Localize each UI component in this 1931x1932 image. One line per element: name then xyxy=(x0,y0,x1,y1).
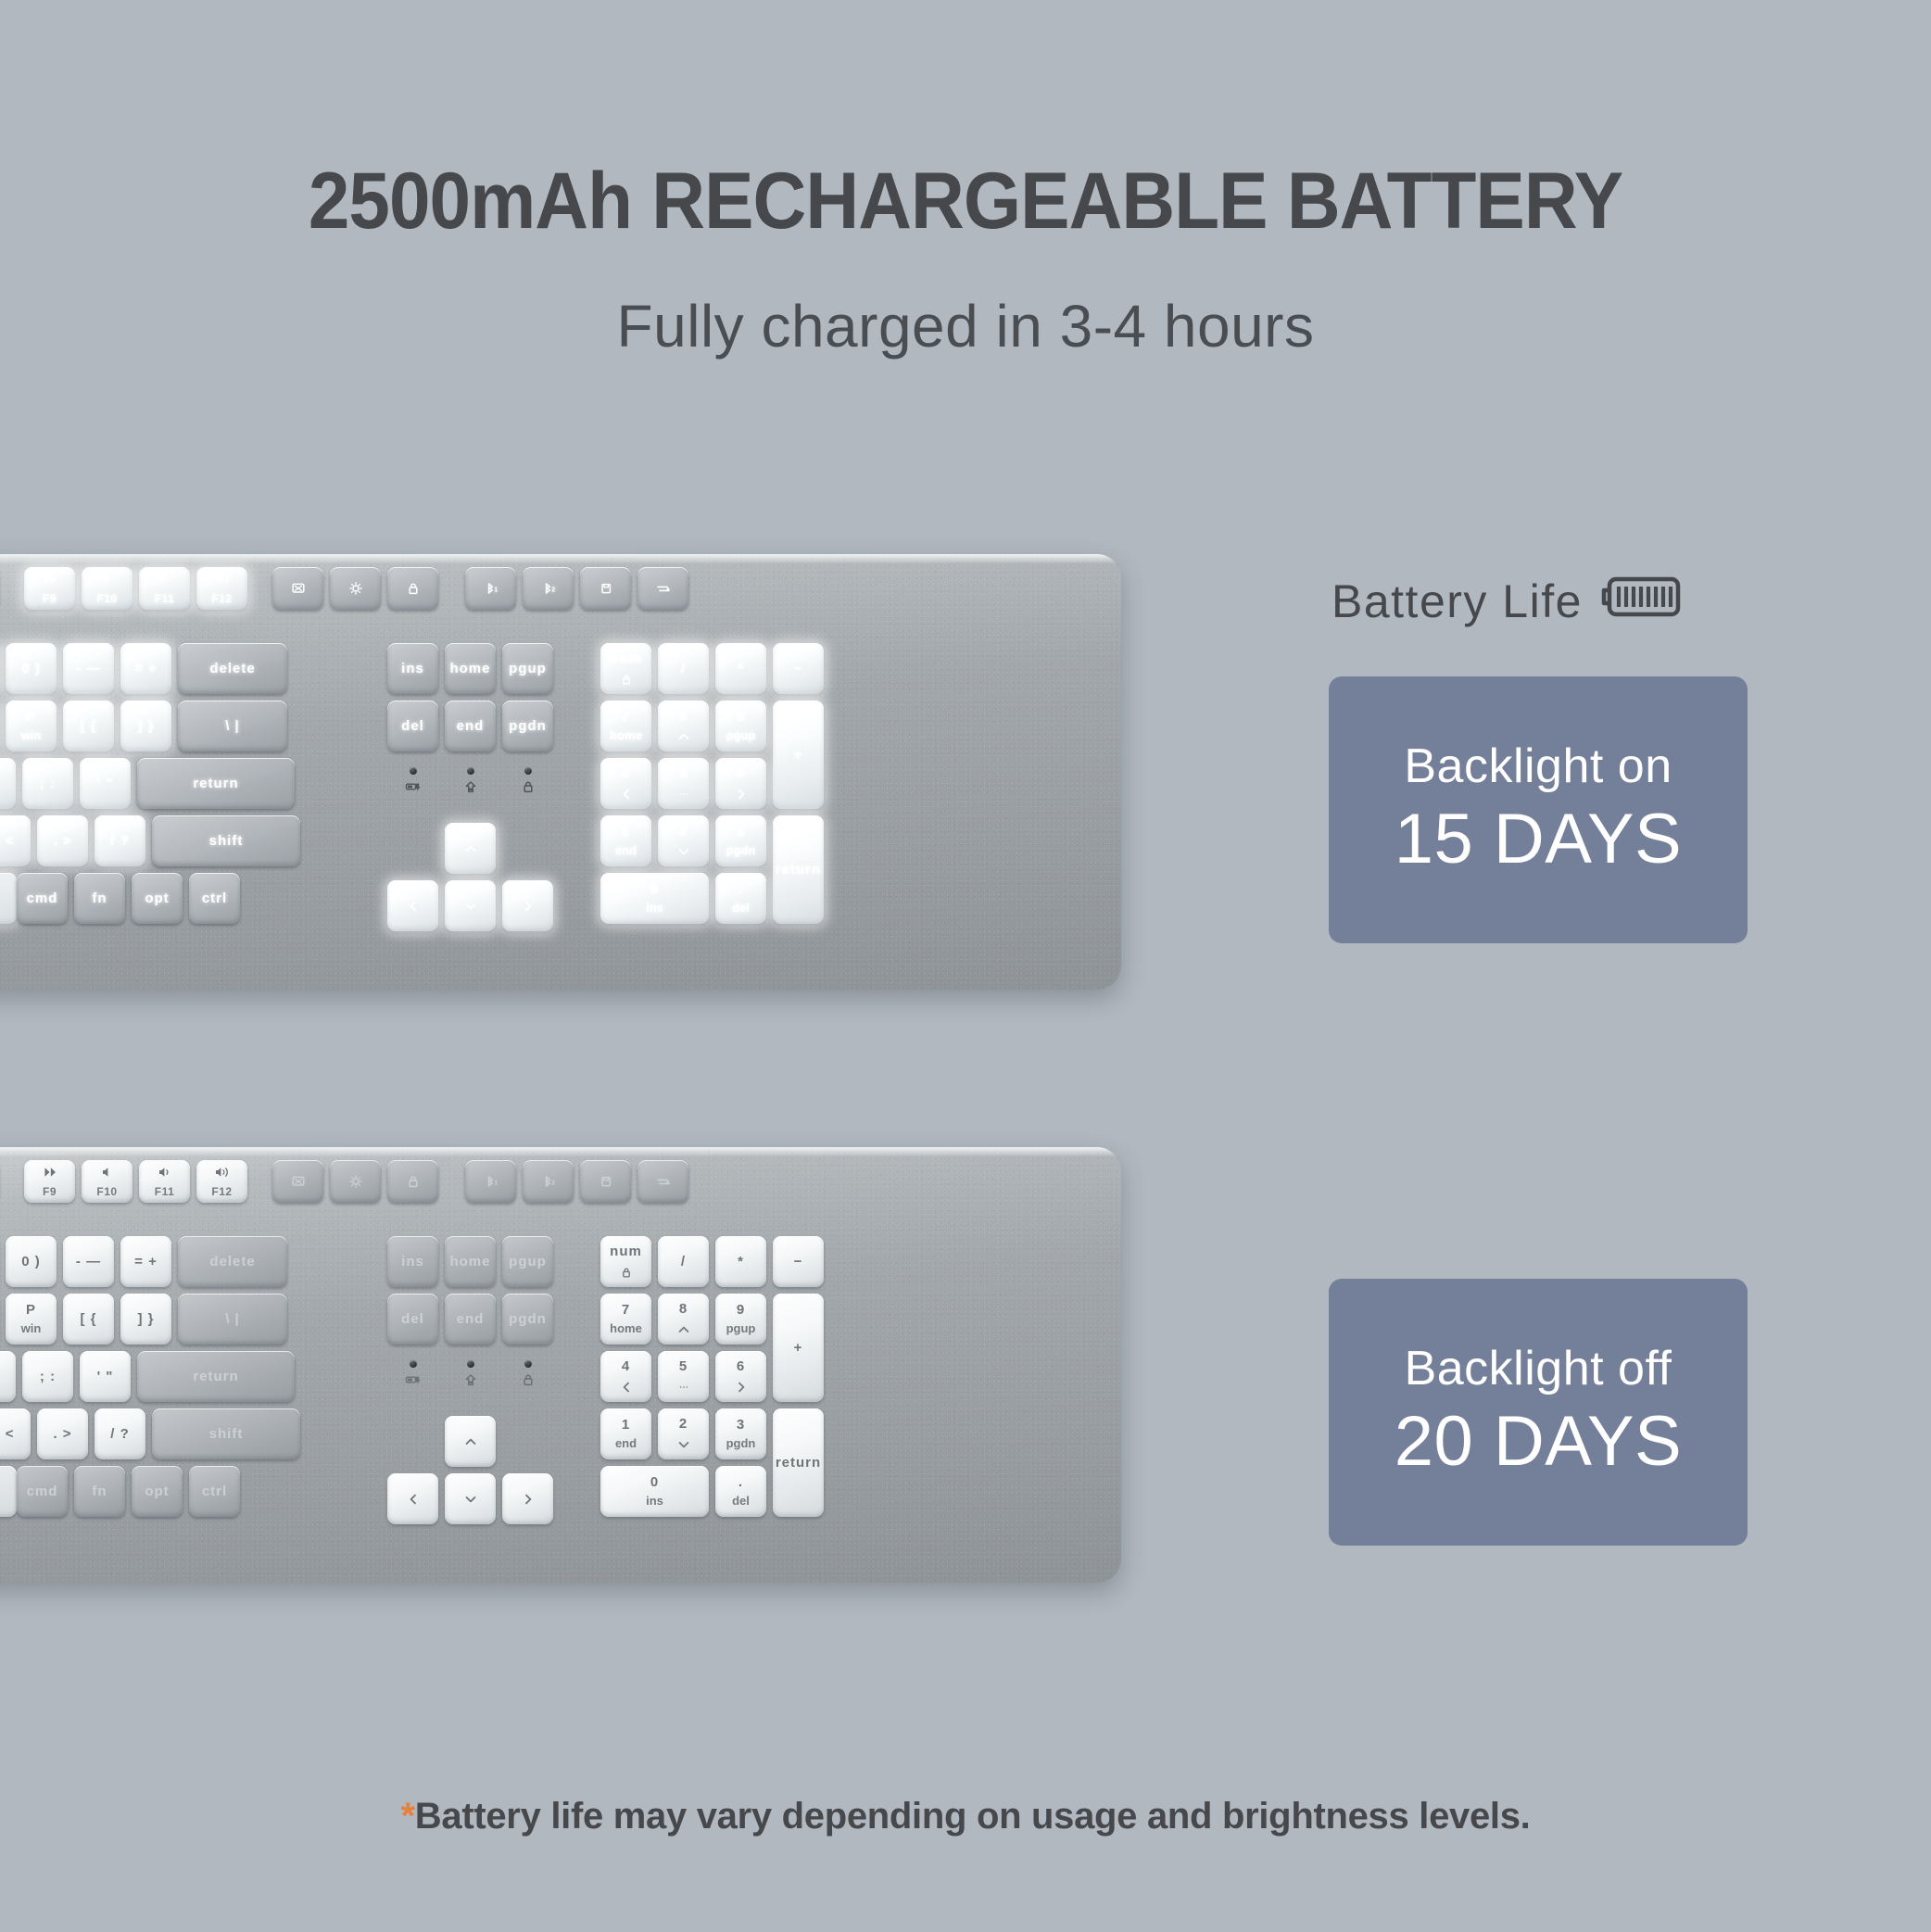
key-bluetooth-2[interactable]: 2 xyxy=(523,1160,574,1203)
num-lock-led xyxy=(519,767,537,796)
battery-life-label: Battery Life xyxy=(1332,575,1681,628)
key-legend: pgup xyxy=(509,661,547,676)
svg-text:1: 1 xyxy=(494,587,498,594)
numlock-icon xyxy=(617,672,636,687)
key-pgdn[interactable]: pgdn xyxy=(502,701,553,751)
key-numpad-*[interactable]: * xyxy=(715,643,766,694)
key-bluetooth-1[interactable]: 1 xyxy=(465,1160,516,1203)
key-legend: opt xyxy=(145,890,169,906)
key-sublegend: pgup xyxy=(726,729,756,743)
key-legend: / ? xyxy=(110,833,130,849)
key-del[interactable]: del xyxy=(387,701,438,751)
svg-text:2: 2 xyxy=(551,1181,555,1187)
brightness-icon xyxy=(347,1174,365,1189)
key-numpad-1[interactable]: 1end xyxy=(600,1408,651,1459)
key-legend: pgdn xyxy=(509,1311,547,1327)
key-arrow-up[interactable] xyxy=(445,1416,496,1467)
key-bluetooth-1[interactable]: 1 xyxy=(465,567,516,610)
key-legend: . > xyxy=(53,833,71,849)
key-f10[interactable]: F10 xyxy=(82,567,133,610)
down-arrow xyxy=(675,1437,693,1452)
key-sublegend: F11 xyxy=(155,593,175,606)
key-screenshot[interactable] xyxy=(272,567,323,610)
key-.>[interactable]: . > xyxy=(37,815,88,866)
key-sublegend: F9 xyxy=(43,593,57,606)
key-legend: − xyxy=(794,1254,803,1269)
lock-icon xyxy=(404,581,423,596)
key-legend: - — xyxy=(76,661,101,676)
key-numpad-8[interactable]: 8 xyxy=(658,701,709,751)
key-backslash[interactable]: \ | xyxy=(178,701,287,751)
key-sublegend: win xyxy=(21,1322,42,1336)
key-sublegend: F11 xyxy=(155,1186,175,1199)
keyboard-backlight-on: F5F6F7F8F9F10F11F12126 ∧7 &8 *9 (0 )- —=… xyxy=(0,554,1121,990)
key-legend: end xyxy=(457,1311,485,1327)
dongle-icon xyxy=(597,581,615,596)
key-.>[interactable]: . > xyxy=(37,1408,88,1459)
key-sublegend: F10 xyxy=(96,1186,117,1199)
led-dot xyxy=(467,1360,474,1368)
key-sublegend: home xyxy=(610,1322,642,1336)
key-numpad-plus[interactable]: + xyxy=(773,1294,824,1402)
dongle-icon xyxy=(597,1174,615,1189)
key-legend: ; : xyxy=(40,1369,56,1384)
key-legend: P xyxy=(26,1302,36,1318)
key-legend: 7 xyxy=(622,1302,630,1318)
charging-led xyxy=(404,767,423,796)
brightness-icon xyxy=(347,581,365,596)
page-title: 2500mAh RECHARGEABLE BATTERY xyxy=(68,156,1863,247)
key-legend: cmd xyxy=(27,890,58,906)
keyboard-backlight-off: F5F6F7F8F9F10F11F12126 ∧7 &8 *9 (0 )- —=… xyxy=(0,1147,1121,1583)
caps-lock-led xyxy=(461,1360,480,1389)
key-f10[interactable]: F10 xyxy=(82,1160,133,1203)
key-backslash[interactable]: \ | xyxy=(178,1294,287,1345)
right-arrow xyxy=(732,787,751,802)
key-pgdn[interactable]: pgdn xyxy=(502,1294,553,1345)
key-legend: 6 xyxy=(737,1358,745,1374)
key--—[interactable]: - — xyxy=(63,643,114,694)
key-'"[interactable]: ' " xyxy=(80,758,131,809)
key-/?[interactable]: / ? xyxy=(95,815,145,866)
callout-backlight-off: Backlight off 20 DAYS xyxy=(1329,1279,1748,1546)
usb-c-icon xyxy=(654,581,673,596)
key-legend: return xyxy=(193,1369,238,1384)
key-p[interactable]: Pwin xyxy=(6,1294,57,1345)
key-legend: / ? xyxy=(110,1426,130,1442)
key-legend: / xyxy=(681,661,686,676)
key-legend: delete xyxy=(209,661,255,676)
key-ins[interactable]: ins xyxy=(387,1236,438,1287)
key-legend: − xyxy=(794,661,803,676)
key-legend: del xyxy=(401,1311,424,1327)
key-legend: ; : xyxy=(40,776,56,791)
key-opt[interactable]: opt xyxy=(132,873,183,924)
key-sublegend: pgdn xyxy=(726,844,756,858)
right-arrow xyxy=(732,1380,751,1395)
usb-c-icon xyxy=(654,1174,673,1189)
key-numpad-decimal[interactable]: .del xyxy=(715,873,766,924)
down-arrow xyxy=(461,1492,480,1507)
footnote-asterisk: * xyxy=(401,1796,415,1837)
key-arrow-up[interactable] xyxy=(445,823,496,874)
key-numpad-5[interactable]: 5 xyxy=(658,758,709,809)
key--—[interactable]: - — xyxy=(63,1236,114,1287)
key-sublegend: win xyxy=(21,729,42,743)
key-legend: . > xyxy=(53,1426,71,1442)
key-legend: delete xyxy=(209,1254,255,1269)
key-sublegend: ins xyxy=(646,1495,663,1509)
charging-led xyxy=(404,1360,423,1389)
key-space[interactable] xyxy=(0,873,17,924)
key-legend: 8 xyxy=(679,708,688,724)
key-ctrl[interactable]: ctrl xyxy=(189,1466,240,1517)
key-delete[interactable]: delete xyxy=(178,643,287,694)
key-sublegend: del xyxy=(732,902,750,915)
callout-value: 20 DAYS xyxy=(1395,1401,1682,1482)
key-numpad-return[interactable]: return xyxy=(773,1408,824,1517)
key-legend: 3 xyxy=(737,824,745,840)
key-fn[interactable]: fn xyxy=(74,873,125,924)
key-legend: shift xyxy=(209,833,244,849)
key-arrow-right[interactable] xyxy=(502,880,553,931)
key-legend: 2 xyxy=(679,1416,688,1432)
key-f11[interactable]: F11 xyxy=(139,1160,190,1203)
key-p[interactable]: Pwin xyxy=(6,701,57,751)
bluetooth-2-icon: 2 xyxy=(539,1174,558,1189)
down-arrow xyxy=(461,899,480,914)
callout-label: Backlight off xyxy=(1405,1343,1672,1395)
lock-icon xyxy=(519,1372,537,1389)
key-f9[interactable]: F9 xyxy=(24,567,75,610)
key-del[interactable]: del xyxy=(387,1294,438,1345)
key-numpad-num[interactable]: num xyxy=(600,643,651,694)
key-numpad-/[interactable]: / xyxy=(658,1236,709,1287)
key-numpad-decimal[interactable]: .del xyxy=(715,1466,766,1517)
led-dot xyxy=(467,767,474,775)
fast-forward-icon xyxy=(41,1165,59,1180)
bluetooth-2-icon: 2 xyxy=(539,581,558,596)
key-l[interactable]: L xyxy=(0,758,16,809)
key-f11[interactable]: F11 xyxy=(139,567,190,610)
battery-charging-icon xyxy=(404,1372,423,1389)
fast-forward-icon xyxy=(41,572,59,587)
key-legend: = + xyxy=(134,1254,158,1269)
key-bluetooth-2[interactable]: 2 xyxy=(523,567,574,610)
key-legend: \ | xyxy=(225,718,240,734)
key-/?[interactable]: / ? xyxy=(95,1408,145,1459)
key-legend: 2 xyxy=(679,823,688,839)
key-legend: num xyxy=(610,650,642,666)
key-space[interactable] xyxy=(0,1466,17,1517)
key-sublegend: F9 xyxy=(43,1186,57,1199)
key-legend: num xyxy=(610,1244,642,1259)
key-usb-c[interactable] xyxy=(637,567,688,610)
key-legend: . xyxy=(738,1474,743,1490)
key-legend: return xyxy=(776,862,821,878)
key-legend: 4 xyxy=(622,765,630,781)
key-pgup[interactable]: pgup xyxy=(502,1236,553,1287)
key-,<[interactable]: , < xyxy=(0,1408,31,1459)
key-legend: 0 ) xyxy=(21,661,41,676)
key-end[interactable]: end xyxy=(445,1294,496,1345)
caps-lock-led xyxy=(461,767,480,796)
led-dot xyxy=(524,767,532,775)
key-numpad-*[interactable]: * xyxy=(715,1236,766,1287)
key-;:[interactable]: ; : xyxy=(22,1351,73,1402)
key-legend: . xyxy=(738,881,743,897)
key-numpad-−[interactable]: − xyxy=(773,643,824,694)
key-arrow-down[interactable] xyxy=(445,880,496,931)
key-numpad-3[interactable]: 3pgdn xyxy=(715,1408,766,1459)
key-numpad-6[interactable]: 6 xyxy=(715,758,766,809)
left-arrow xyxy=(404,1492,423,1507)
key-sublegend: F10 xyxy=(96,593,117,606)
key-legend: 1 xyxy=(622,824,630,840)
key-legend: 0 xyxy=(650,1474,659,1490)
key-arrow-down[interactable] xyxy=(445,1473,496,1524)
key-]}[interactable]: ] } xyxy=(120,1294,171,1345)
key-legend: end xyxy=(457,718,485,734)
key-legend: fn xyxy=(92,890,107,906)
dots xyxy=(675,787,693,802)
screenshot-icon xyxy=(289,581,308,596)
key-numpad-1[interactable]: 1end xyxy=(600,815,651,866)
key-l[interactable]: L xyxy=(0,1351,16,1402)
key-f12[interactable]: F12 xyxy=(196,567,247,610)
key-screenshot[interactable] xyxy=(272,1160,323,1203)
down-arrow xyxy=(675,844,693,859)
key-legend: return xyxy=(776,1455,821,1471)
key-sublegend: pgdn xyxy=(726,1437,756,1451)
key-legend: , < xyxy=(0,1426,15,1442)
key-sublegend: home xyxy=(610,729,642,743)
key-dongle[interactable] xyxy=(580,567,631,610)
key-=+[interactable]: = + xyxy=(120,643,171,694)
up-arrow xyxy=(675,1322,693,1337)
key-sublegend: ins xyxy=(646,902,663,915)
key-lock[interactable] xyxy=(387,567,438,610)
key-sublegend: del xyxy=(732,1495,750,1509)
key-numpad-5[interactable]: 5 xyxy=(658,1351,709,1402)
battery-life-text: Battery Life xyxy=(1332,575,1583,628)
key-legend: 9 xyxy=(737,709,745,725)
key-home[interactable]: home xyxy=(445,643,496,694)
led-dot xyxy=(410,1360,417,1368)
footnote-text: Battery life may vary depending on usage… xyxy=(415,1796,1531,1837)
key-legend: , < xyxy=(0,833,15,849)
bluetooth-1-icon: 1 xyxy=(482,1174,500,1189)
key-numpad-2[interactable]: 2 xyxy=(658,1408,709,1459)
left-arrow xyxy=(617,1380,636,1395)
key-legend: * xyxy=(738,1254,744,1269)
bluetooth-1-icon: 1 xyxy=(482,581,500,596)
key-delete[interactable]: delete xyxy=(178,1236,287,1287)
key-arrow-left[interactable] xyxy=(387,1473,438,1524)
key-ctrl[interactable]: ctrl xyxy=(189,873,240,924)
caps-lock-icon xyxy=(461,779,480,796)
key-legend: ' " xyxy=(97,1369,114,1384)
key-legend: pgdn xyxy=(509,718,547,734)
key-home[interactable]: home xyxy=(445,1236,496,1287)
num-lock-led xyxy=(519,1360,537,1389)
key-end[interactable]: end xyxy=(445,701,496,751)
led-dot xyxy=(524,1360,532,1368)
key-legend: ' " xyxy=(97,776,114,791)
key-0)[interactable]: 0 ) xyxy=(6,643,57,694)
up-arrow xyxy=(675,729,693,744)
key-legend: + xyxy=(794,1340,803,1356)
key-legend: fn xyxy=(92,1484,107,1499)
left-arrow xyxy=(404,899,423,914)
key-arrow-left[interactable] xyxy=(387,880,438,931)
key-return[interactable]: return xyxy=(137,758,295,809)
key-numpad-3[interactable]: 3pgdn xyxy=(715,815,766,866)
key-legend: 5 xyxy=(679,765,688,781)
key-;:[interactable]: ; : xyxy=(22,758,73,809)
svg-text:2: 2 xyxy=(551,587,555,594)
key-numpad-4[interactable]: 4 xyxy=(600,758,651,809)
key-legend: home xyxy=(449,1254,490,1269)
key-,<[interactable]: , < xyxy=(0,815,31,866)
key-numpad-0[interactable]: 0ins xyxy=(600,873,709,924)
key-numpad-9[interactable]: 9pgup xyxy=(715,1294,766,1345)
key-ins[interactable]: ins xyxy=(387,643,438,694)
key-return[interactable]: return xyxy=(137,1351,295,1402)
key-legend: ] } xyxy=(138,718,155,734)
volume-down-icon xyxy=(156,1165,174,1180)
right-arrow xyxy=(519,899,537,914)
page-subtitle: Fully charged in 3-4 hours xyxy=(0,292,1931,360)
screenshot-icon xyxy=(289,1174,308,1189)
key-sublegend: pgup xyxy=(726,1322,756,1336)
key-numpad-8[interactable]: 8 xyxy=(658,1294,709,1345)
key-numpad-7[interactable]: 7home xyxy=(600,1294,651,1345)
key-legend: 3 xyxy=(737,1417,745,1433)
key-'"[interactable]: ' " xyxy=(80,1351,131,1402)
key-legend: 5 xyxy=(679,1358,688,1374)
key-legend: = + xyxy=(134,661,158,676)
callout-value: 15 DAYS xyxy=(1395,799,1682,879)
key-=+[interactable]: = + xyxy=(120,1236,171,1287)
caps-lock-icon xyxy=(461,1372,480,1389)
key-brightness[interactable] xyxy=(330,567,381,610)
key-legend: ctrl xyxy=(202,1484,227,1499)
key-f9[interactable]: F9 xyxy=(24,1160,75,1203)
key-[{[interactable]: [ { xyxy=(63,701,114,751)
key-legend: * xyxy=(738,661,744,676)
key-legend: 4 xyxy=(622,1358,630,1374)
key-legend: ins xyxy=(401,661,424,676)
key-legend: \ | xyxy=(225,1311,240,1327)
svg-text:1: 1 xyxy=(494,1181,498,1187)
key-fn[interactable]: fn xyxy=(74,1466,125,1517)
key-legend: / xyxy=(681,1254,686,1269)
key-shift-right[interactable]: shift xyxy=(152,1408,300,1459)
battery-charging-icon xyxy=(404,779,423,796)
key-usb-c[interactable] xyxy=(637,1160,688,1203)
key-brightness[interactable] xyxy=(330,1160,381,1203)
callout-backlight-on: Backlight on 15 DAYS xyxy=(1329,676,1748,943)
key-legend: [ { xyxy=(81,1311,97,1327)
key-legend: 6 xyxy=(737,765,745,781)
key-numpad-num[interactable]: num xyxy=(600,1236,651,1287)
key-numpad-4[interactable]: 4 xyxy=(600,1351,651,1402)
key-numpad-2[interactable]: 2 xyxy=(658,815,709,866)
key-legend: P xyxy=(26,709,36,725)
key-legend: 7 xyxy=(622,709,630,725)
volume-down-icon xyxy=(156,572,174,587)
key-cmd[interactable]: cmd xyxy=(17,873,68,924)
led-dot xyxy=(410,767,417,775)
key-arrow-right[interactable] xyxy=(502,1473,553,1524)
key-numpad-9[interactable]: 9pgup xyxy=(715,701,766,751)
key-cmd[interactable]: cmd xyxy=(17,1466,68,1517)
key-numpad-/[interactable]: / xyxy=(658,643,709,694)
volume-up-icon xyxy=(213,1165,232,1180)
key-f12[interactable]: F12 xyxy=(196,1160,247,1203)
footnote: *Battery life may vary depending on usag… xyxy=(0,1796,1931,1837)
numlock-icon xyxy=(617,1265,636,1280)
key-legend: 9 xyxy=(737,1302,745,1318)
key-dongle[interactable] xyxy=(580,1160,631,1203)
key-legend: home xyxy=(449,661,490,676)
right-arrow xyxy=(519,1492,537,1507)
key-sublegend: F12 xyxy=(211,593,232,606)
key-legend: return xyxy=(193,776,238,791)
key-legend: 1 xyxy=(622,1417,630,1433)
key-sublegend: F12 xyxy=(211,1186,232,1199)
key-legend: 0 xyxy=(650,881,659,897)
key-legend: pgup xyxy=(509,1254,547,1269)
volume-up-icon xyxy=(213,572,232,587)
key-sublegend: end xyxy=(615,844,637,858)
key-numpad-−[interactable]: − xyxy=(773,1236,824,1287)
key-legend: + xyxy=(794,747,803,763)
key-numpad-7[interactable]: 7home xyxy=(600,701,651,751)
key-lock[interactable] xyxy=(387,1160,438,1203)
volume-mute-icon xyxy=(98,572,117,587)
key-pgup[interactable]: pgup xyxy=(502,643,553,694)
key-legend: 0 ) xyxy=(21,1254,41,1269)
volume-mute-icon xyxy=(98,1165,117,1180)
key-numpad-return[interactable]: return xyxy=(773,815,824,924)
key-legend: ctrl xyxy=(202,890,227,906)
key-legend: [ { xyxy=(81,718,97,734)
key-shift-right[interactable]: shift xyxy=(152,815,300,866)
key-legend: opt xyxy=(145,1484,169,1499)
up-arrow xyxy=(461,1434,480,1449)
key-numpad-plus[interactable]: + xyxy=(773,701,824,809)
key-sublegend: end xyxy=(615,1437,637,1451)
up-arrow xyxy=(461,841,480,856)
key-legend: shift xyxy=(209,1426,244,1442)
key-opt[interactable]: opt xyxy=(132,1466,183,1517)
key-legend: cmd xyxy=(27,1484,58,1499)
key-0)[interactable]: 0 ) xyxy=(6,1236,57,1287)
key-legend: 8 xyxy=(679,1301,688,1317)
key-legend: ins xyxy=(401,1254,424,1269)
lock-icon xyxy=(519,779,537,796)
callout-label: Backlight on xyxy=(1404,740,1672,793)
key-numpad-6[interactable]: 6 xyxy=(715,1351,766,1402)
dots xyxy=(675,1380,693,1395)
key-[{[interactable]: [ { xyxy=(63,1294,114,1345)
key-]}[interactable]: ] } xyxy=(120,701,171,751)
lock-icon xyxy=(404,1174,423,1189)
left-arrow xyxy=(617,787,636,802)
key-numpad-0[interactable]: 0ins xyxy=(600,1466,709,1517)
